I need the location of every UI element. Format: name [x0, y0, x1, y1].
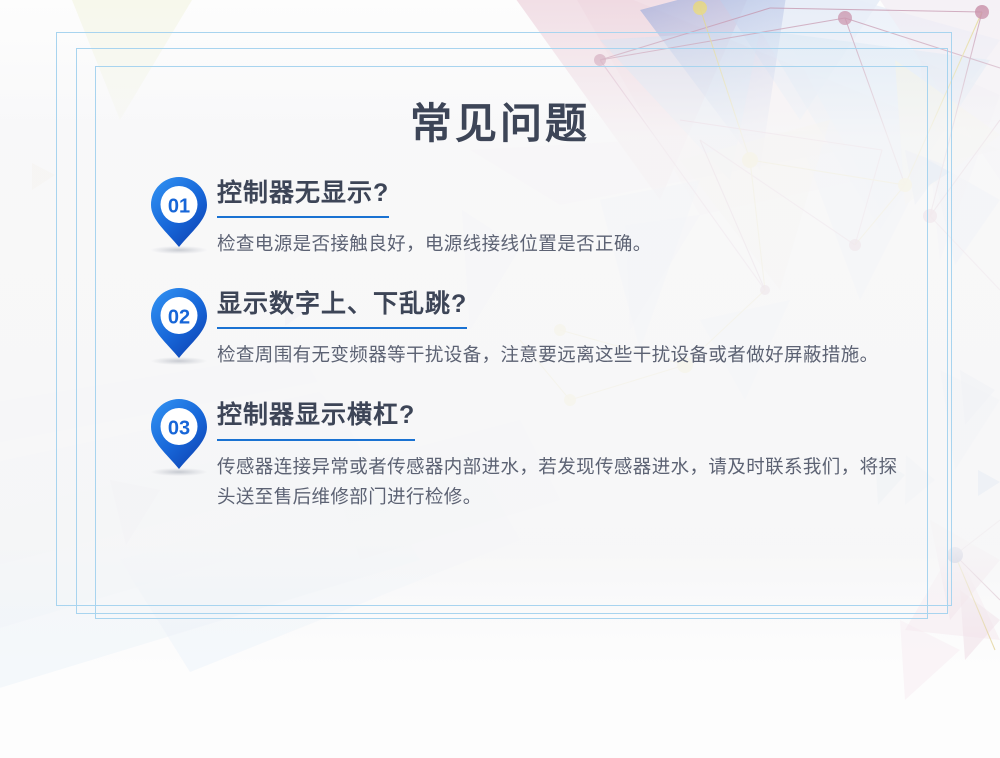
faq-page: 常见问题	[0, 0, 1000, 758]
faq-question: 控制器显示横杠?	[217, 400, 415, 440]
pin-shadow	[151, 246, 207, 254]
faq-number-marker: 02	[145, 287, 217, 369]
faq-number-marker: 03	[145, 398, 217, 480]
pin-shadow	[151, 357, 207, 365]
faq-number-text: 01	[168, 196, 190, 218]
faq-text-block: 控制器无显示? 检查电源是否接触良好，电源线接线位置是否正确。	[217, 176, 905, 259]
map-pin-icon: 01	[149, 176, 209, 248]
faq-list: 01 控制器无显示? 检查电源是否接触良好，电源线接线位置是否正确。	[145, 176, 905, 540]
faq-text-block: 显示数字上、下乱跳? 检查周围有无变频器等干扰设备，注意要远离这些干扰设备或者做…	[217, 287, 905, 370]
faq-item: 01 控制器无显示? 检查电源是否接触良好，电源线接线位置是否正确。	[145, 176, 905, 259]
content-area: 常见问题	[0, 0, 1000, 758]
pin-shadow	[151, 468, 207, 476]
faq-number-text: 02	[168, 307, 190, 329]
map-pin-icon: 03	[149, 398, 209, 470]
faq-answer: 检查周围有无变频器等干扰设备，注意要远离这些干扰设备或者做好屏蔽措施。	[217, 340, 905, 370]
faq-item: 03 控制器显示横杠? 传感器连接异常或者传感器内部进水，若发现传感器进水，请及…	[145, 398, 905, 511]
map-pin-icon: 02	[149, 287, 209, 359]
faq-number-marker: 01	[145, 176, 217, 258]
faq-item: 02 显示数字上、下乱跳? 检查周围有无变频器等干扰设备，注意要远离这些干扰设备…	[145, 287, 905, 370]
faq-number-text: 03	[168, 418, 190, 440]
faq-question: 显示数字上、下乱跳?	[217, 289, 467, 329]
faq-answer: 传感器连接异常或者传感器内部进水，若发现传感器进水，请及时联系我们，将探头送至售…	[217, 452, 905, 512]
page-title: 常见问题	[0, 90, 1000, 151]
faq-text-block: 控制器显示横杠? 传感器连接异常或者传感器内部进水，若发现传感器进水，请及时联系…	[217, 398, 905, 511]
faq-answer: 检查电源是否接触良好，电源线接线位置是否正确。	[217, 229, 905, 259]
faq-question: 控制器无显示?	[217, 178, 389, 218]
